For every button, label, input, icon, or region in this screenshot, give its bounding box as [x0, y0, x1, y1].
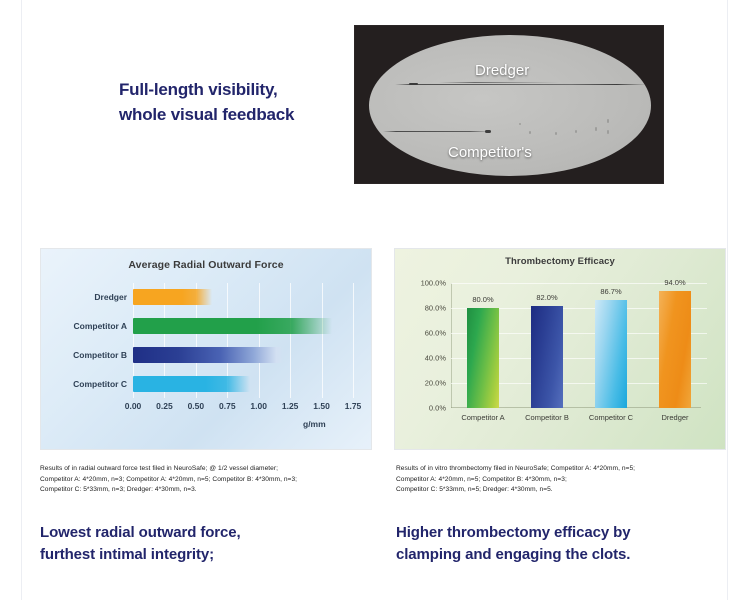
right-kicker-line2: clamping and engaging the clots. — [396, 544, 736, 566]
gridline — [353, 283, 354, 398]
x-axis-unit-label: g/mm — [303, 419, 326, 429]
image-speck — [607, 119, 609, 123]
bar-category-label: Competitor A — [461, 413, 504, 422]
right-chart-caption: Results of in vitro thrombectomy filed i… — [396, 464, 736, 496]
bar: 86.7%Competitor C — [595, 300, 627, 408]
x-axis-ticks: 0.000.250.500.751.001.251.501.75 — [133, 401, 353, 415]
x-axis-tick-label: 0.00 — [125, 401, 142, 411]
caption-line: Competitor C: 5*33mm, n=3; Dredger: 4*30… — [40, 485, 380, 496]
image-speck — [607, 130, 609, 134]
image-speck — [575, 130, 577, 133]
right-kicker-line1: Higher thrombectomy efficacy by — [396, 522, 736, 544]
competitor-wire-tip — [485, 130, 491, 133]
radial-outward-force-chart: Average Radial Outward Force DredgerComp… — [40, 248, 372, 450]
fluoroscopy-comparison-image: Dredger Competitor's — [354, 25, 664, 184]
bar-category-label: Competitor A — [73, 321, 127, 331]
caption-line: Competitor C: 5*33mm, n=5; Dredger: 4*30… — [396, 485, 736, 496]
bar-category-label: Dredger — [94, 292, 127, 302]
bar-category-label: Competitor B — [73, 350, 127, 360]
left-column: Average Radial Outward Force DredgerComp… — [40, 248, 372, 450]
bar-category-label: Competitor C — [73, 379, 127, 389]
bar-value-label: 82.0% — [536, 293, 557, 302]
left-kicker-line2: furthest intimal integrity; — [40, 544, 380, 566]
hero-headline: Full-length visibility, whole visual fee… — [119, 78, 349, 127]
y-axis-tick-label: 60.0% — [425, 329, 446, 338]
bar-category-label: Competitor B — [525, 413, 569, 422]
left-kicker-line1: Lowest radial outward force, — [40, 522, 380, 544]
image-speck — [529, 131, 531, 134]
horizontal-bar-plot-area: DredgerCompetitor ACompetitor BCompetito… — [133, 283, 353, 398]
x-axis-tick-label: 0.75 — [219, 401, 236, 411]
bar — [133, 376, 250, 392]
bar: 82.0%Competitor B — [531, 306, 563, 409]
bar — [133, 289, 212, 305]
x-axis-tick-label: 1.50 — [313, 401, 330, 411]
hero-section: Full-length visibility, whole visual fee… — [22, 0, 729, 210]
image-speck — [555, 132, 557, 135]
x-axis-tick-label: 1.75 — [345, 401, 362, 411]
dredger-wire-tip — [409, 83, 418, 85]
bar-value-label: 86.7% — [600, 287, 621, 296]
competitor-wire — [383, 131, 491, 132]
dredger-wire — [395, 84, 647, 85]
bar-row: Competitor C — [133, 376, 353, 392]
bar — [133, 347, 284, 363]
hero-headline-line2: whole visual feedback — [119, 103, 349, 128]
caption-line: Results of in radial outward force test … — [40, 464, 380, 475]
right-kicker: Higher thrombectomy efficacy by clamping… — [396, 522, 736, 566]
y-axis-tick-label: 40.0% — [425, 354, 446, 363]
bar-row: Competitor A — [133, 318, 353, 334]
bar-value-label: 80.0% — [472, 295, 493, 304]
x-axis-tick-label: 1.25 — [282, 401, 299, 411]
bar-category-label: Dredger — [661, 413, 688, 422]
bar-row: Competitor B — [133, 347, 353, 363]
bar: 94.0%Dredger — [659, 291, 691, 409]
thrombectomy-efficacy-chart: Thrombectomy Efficacy 0.0%20.0%40.0%60.0… — [394, 248, 726, 450]
left-chart-caption: Results of in radial outward force test … — [40, 464, 380, 496]
y-axis-tick-label: 0.0% — [429, 404, 446, 413]
image-label-competitor: Competitor's — [448, 144, 532, 161]
slide-page: Full-length visibility, whole visual fee… — [21, 0, 728, 600]
hero-headline-line1: Full-length visibility, — [119, 78, 349, 103]
chart-title: Thrombectomy Efficacy — [395, 256, 725, 267]
y-axis-line — [451, 283, 452, 408]
image-speck — [519, 123, 521, 125]
image-label-dredger: Dredger — [475, 62, 529, 79]
image-speck — [595, 127, 597, 131]
vertical-bar-plot-area: 0.0%20.0%40.0%60.0%80.0%100.0%80.0%Compe… — [451, 283, 707, 408]
x-axis-tick-label: 1.00 — [250, 401, 267, 411]
bar-category-label: Competitor C — [589, 413, 633, 422]
caption-line: Competitor A: 4*20mm, n=5; Competitor B:… — [396, 475, 736, 486]
bar-value-label: 94.0% — [664, 278, 685, 287]
bar: 80.0%Competitor A — [467, 308, 499, 408]
y-axis-tick-label: 80.0% — [425, 304, 446, 313]
caption-line: Results of in vitro thrombectomy filed i… — [396, 464, 736, 475]
x-axis-tick-label: 0.25 — [156, 401, 173, 411]
caption-line: Competitor A: 4*20mm, n=3; Competitor A:… — [40, 475, 380, 486]
chart-title: Average Radial Outward Force — [41, 259, 371, 271]
y-axis-tick-label: 20.0% — [425, 379, 446, 388]
bar — [133, 318, 332, 334]
bar-row: Dredger — [133, 289, 353, 305]
right-column: Thrombectomy Efficacy 0.0%20.0%40.0%60.0… — [394, 248, 726, 450]
dredger-wire-secondary — [439, 82, 559, 83]
y-axis-tick-label: 100.0% — [421, 279, 446, 288]
left-kicker: Lowest radial outward force, furthest in… — [40, 522, 380, 566]
x-axis-tick-label: 0.50 — [188, 401, 205, 411]
